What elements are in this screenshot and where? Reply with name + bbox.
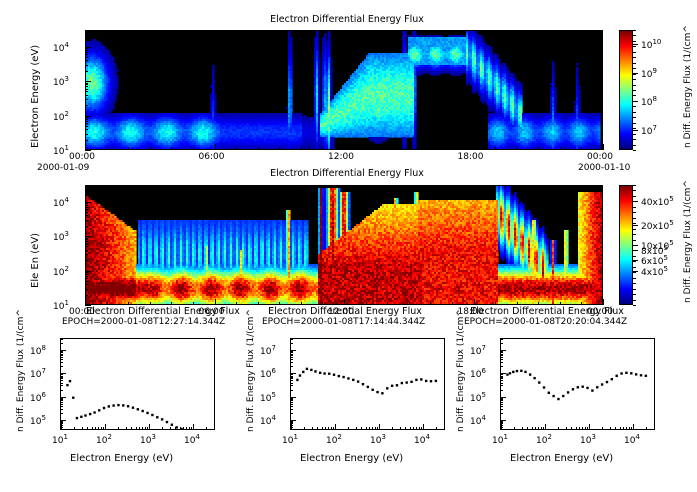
ytick-minor [60, 409, 63, 410]
bottom-panel-3-plot[interactable] [500, 338, 655, 430]
ytick-minor [290, 352, 293, 353]
colorbar-tick-minor [633, 272, 636, 273]
ytick-minor [290, 400, 293, 401]
xtick-minor [582, 427, 583, 430]
xtick-minor [538, 427, 539, 430]
panel2-colorbar[interactable] [619, 185, 633, 305]
xtick-minor [579, 427, 580, 430]
ytick-minor [60, 385, 63, 386]
xtick-minor [602, 427, 603, 430]
bottom-panel-1-title: Electron Differential Energy Flux [78, 306, 248, 317]
xtick-minor [301, 147, 302, 150]
ytick-minor [60, 376, 63, 377]
ytick-minor [85, 246, 88, 247]
colorbar-tick-minor [633, 185, 636, 186]
bottom-panel-1-ytick-1e8: 108 [30, 344, 46, 357]
ytick-minor [85, 89, 88, 90]
ytick-minor [85, 244, 88, 245]
ytick-minor [85, 220, 88, 221]
xtick-minor [620, 427, 621, 430]
bottom-panel-2-xtick-1e4: 104 [414, 433, 430, 446]
bottom-panel-1-xtick-1e2: 102 [96, 433, 112, 446]
xtick-minor [147, 427, 148, 430]
xtick-mark [501, 424, 502, 430]
ytick-minor [290, 378, 293, 379]
ytick-minor [500, 378, 503, 379]
xtick-minor [377, 427, 378, 430]
ytick-minor [60, 406, 63, 407]
ytick-minor [85, 241, 88, 242]
colorbar-tick-minor [633, 305, 636, 306]
xtick-minor [171, 147, 172, 150]
ytick-minor [85, 191, 88, 192]
colorbar-tick-minor [633, 261, 636, 262]
xtick-minor [193, 302, 194, 305]
xtick-minor [150, 147, 151, 150]
xtick-minor [436, 427, 437, 430]
bottom-panel-3-epoch: EPOCH=2000-01-08T20:20:04.344Z [464, 317, 627, 327]
ytick-minor [290, 413, 293, 414]
panel1-xdate-right: 2000-01-10 [578, 163, 630, 173]
xtick-minor [375, 427, 376, 430]
xtick-minor [581, 147, 582, 150]
ytick-minor [500, 376, 503, 377]
ytick-minor [290, 351, 293, 352]
bottom-panel-2-plot[interactable] [290, 338, 445, 430]
xtick-minor [387, 302, 388, 305]
xtick-minor [541, 427, 542, 430]
colorbar-tick-minor [633, 134, 636, 135]
ytick-minor [500, 351, 503, 352]
bottom-panel-2-canvas [291, 339, 444, 429]
ytick-minor [85, 254, 88, 255]
xtick-mark [193, 424, 194, 430]
bottom-panel-2-ylabel: n Diff. Energy Flux (1/(cm^ [246, 309, 256, 432]
colorbar-tick-minor [633, 41, 636, 42]
xtick-0600: 06:00 [199, 152, 225, 162]
xtick-minor [118, 427, 119, 430]
panel2-colorbar-label: n Diff. Energy Flux (1/(cm^ [683, 180, 693, 303]
colorbar-tick-minor [633, 201, 636, 202]
ytick-minor [60, 399, 63, 400]
ytick-minor [85, 71, 88, 72]
xtick-minor [193, 147, 194, 150]
ytick-minor [85, 215, 88, 216]
ytick-minor [500, 377, 503, 378]
ytick-minor [60, 359, 63, 360]
ytick-1e4: 104 [53, 196, 69, 209]
xtick-minor [615, 427, 616, 430]
ytick-1e2: 102 [53, 265, 69, 278]
ytick-1e3: 103 [53, 230, 69, 243]
colorbar-tick-minor [633, 117, 636, 118]
ytick-minor [60, 398, 63, 399]
colorbar-tick-minor [633, 300, 636, 301]
colorbar-tick-minor [633, 283, 636, 284]
xtick-minor [322, 427, 323, 430]
ytick-minor [500, 421, 503, 422]
colorbar-tick-minor [633, 101, 636, 102]
xtick-minor [646, 427, 647, 430]
xtick-minor [623, 427, 624, 430]
bottom-panel-3-xlabel: Electron Energy (eV) [510, 453, 613, 464]
colorbar-tick-0: 1010 [641, 38, 661, 51]
colorbar-tick-minor [633, 150, 636, 151]
ytick-minor [85, 57, 88, 58]
xtick-mark [423, 424, 424, 430]
panel1-xdate-left: 2000-01-09 [37, 163, 89, 173]
bottom-panel-3-ytick-1e7: 107 [470, 344, 486, 357]
ytick-minor [290, 402, 293, 403]
xtick-mark [61, 424, 62, 430]
xtick-minor [191, 427, 192, 430]
ytick-minor [290, 399, 293, 400]
ytick-minor [85, 117, 88, 118]
xtick-minor [145, 427, 146, 430]
ytick-1e4: 104 [53, 41, 69, 54]
xtick-minor [405, 427, 406, 430]
ytick-minor [85, 105, 88, 106]
colorbar-tick-2: 108 [641, 95, 657, 108]
ytick-minor [60, 362, 63, 363]
ytick-minor [85, 86, 88, 87]
panel1-spectrogram[interactable] [85, 30, 603, 150]
bottom-panel-2-xtick-1e3: 103 [370, 433, 386, 446]
xtick-minor [543, 427, 544, 430]
bottom-panel-3-ytick-1e6: 106 [470, 367, 486, 380]
xtick-minor [344, 302, 345, 305]
ytick-minor [85, 207, 88, 208]
ytick-minor [60, 422, 63, 423]
xtick-minor [372, 427, 373, 430]
xtick-minor [215, 302, 216, 305]
ytick-minor [85, 250, 88, 251]
ytick-minor [85, 121, 88, 122]
ytick-minor [500, 402, 503, 403]
bottom-panel-2-xtick-1e1: 101 [282, 433, 298, 446]
colorbar-tick-minor [633, 35, 636, 36]
xtick-minor [392, 427, 393, 430]
xtick-minor [430, 302, 431, 305]
xtick-minor [150, 302, 151, 305]
ytick-minor [85, 276, 88, 277]
ytick-minor [290, 359, 293, 360]
xtick-minor [517, 302, 518, 305]
colorbar-tick-minor [633, 139, 636, 140]
xtick-minor [576, 427, 577, 430]
colorbar-tick-minor [633, 190, 636, 191]
xtick-minor [369, 427, 370, 430]
xtick-minor [610, 427, 611, 430]
bottom-panel-3-canvas [501, 339, 654, 429]
bottom-panel-1-ytick-1e7: 107 [30, 367, 46, 380]
panel1-colorbar[interactable] [619, 30, 633, 150]
xtick-minor [344, 147, 345, 150]
ytick-minor [85, 281, 88, 282]
xtick-minor [356, 427, 357, 430]
ytick-minor [60, 383, 63, 384]
panel2-colorbar-gradient [620, 186, 632, 304]
xtick-minor [107, 147, 108, 150]
ytick-minor [290, 377, 293, 378]
ytick-minor [290, 422, 293, 423]
ytick-minor [60, 355, 63, 356]
xtick-minor [107, 302, 108, 305]
xtick-minor [258, 147, 259, 150]
ytick-minor [60, 343, 63, 344]
xtick-minor [82, 427, 83, 430]
xtick-minor [566, 427, 567, 430]
ytick-minor [60, 351, 63, 352]
xtick-minor [101, 427, 102, 430]
ytick-minor [500, 400, 503, 401]
ytick-minor [85, 91, 88, 92]
ytick-minor [85, 126, 88, 127]
xtick-minor [131, 427, 132, 430]
ytick-minor [500, 409, 503, 410]
xtick-1800: 18:00 [458, 152, 484, 162]
xtick-minor [532, 427, 533, 430]
ytick-minor [85, 123, 88, 124]
xtick-minor [162, 427, 163, 430]
xtick-minor [189, 427, 190, 430]
xtick-minor [495, 302, 496, 305]
ytick-minor [500, 413, 503, 414]
colorbar-tick-minor [633, 223, 636, 224]
xtick-mark [545, 424, 546, 430]
colorbar-tick-5: 4x105 [641, 265, 668, 278]
xtick-minor [214, 427, 215, 430]
xtick-mark [589, 424, 590, 430]
xtick-0000: 00:00 [587, 152, 613, 162]
colorbar-tick-minor [633, 234, 636, 235]
ytick-minor [85, 140, 88, 141]
xtick-minor [444, 427, 445, 430]
ytick-minor [85, 272, 88, 273]
bottom-panel-3-ytick-1e5: 105 [470, 391, 486, 404]
colorbar-tick-minor [633, 207, 636, 208]
bottom-panel-2-ytick-1e4: 104 [260, 414, 276, 427]
bottom-panel-3-ylabel: n Diff. Energy Flux (1/(cm^ [456, 309, 466, 432]
colorbar-tick-minor [633, 229, 636, 230]
bottom-panel-3-title: Electron Differential Energy Flux [462, 306, 632, 317]
xtick-minor [654, 427, 655, 430]
colorbar-tick-mark [633, 44, 638, 45]
ytick-minor [85, 50, 88, 51]
ytick-minor [85, 54, 88, 55]
bottom-panel-1-ytick-1e6: 106 [30, 391, 46, 404]
ytick-minor [500, 359, 503, 360]
xtick-minor [279, 302, 280, 305]
ytick-minor [290, 362, 293, 363]
colorbar-tick-minor [633, 46, 636, 47]
xtick-minor [603, 147, 604, 150]
bottom-panel-2-ytick-1e6: 106 [260, 367, 276, 380]
xtick-minor [85, 147, 86, 150]
bottom-panel-2-xtick-1e2: 102 [326, 433, 342, 446]
xtick-minor [560, 147, 561, 150]
xtick-minor [128, 302, 129, 305]
ytick-minor [85, 36, 88, 37]
colorbar-tick-minor [633, 196, 636, 197]
xtick-minor [452, 147, 453, 150]
xtick-minor [603, 302, 604, 305]
xtick-minor [279, 147, 280, 150]
bottom-panel-3-xtick-1e4: 104 [624, 433, 640, 446]
ytick-minor [290, 385, 293, 386]
ytick-minor [60, 413, 63, 414]
xtick-minor [361, 427, 362, 430]
ytick-minor [85, 295, 88, 296]
xtick-mark [291, 424, 292, 430]
colorbar-tick-minor [633, 90, 636, 91]
ytick-minor [500, 390, 503, 391]
ytick-minor [290, 339, 293, 340]
xtick-minor [333, 427, 334, 430]
xtick-minor [626, 427, 627, 430]
xtick-minor [215, 147, 216, 150]
xtick-minor [142, 427, 143, 430]
ytick-minor [290, 380, 293, 381]
colorbar-tick-minor [633, 218, 636, 219]
xtick-minor [387, 147, 388, 150]
ytick-minor [290, 357, 293, 358]
colorbar-tick-1: 20x105 [641, 219, 674, 232]
xtick-minor [558, 427, 559, 430]
bottom-panel-2-title: Electron Differential Energy Flux [260, 306, 430, 317]
xtick-minor [366, 302, 367, 305]
xtick-minor [495, 147, 496, 150]
xtick-minor [312, 427, 313, 430]
ytick-minor [60, 402, 63, 403]
xtick-minor [92, 427, 93, 430]
bottom-panel-3-xtick-1e1: 101 [492, 433, 508, 446]
ytick-minor [85, 274, 88, 275]
panel1-title: Electron Differential Energy Flux [187, 14, 507, 25]
xtick-minor [236, 302, 237, 305]
ytick-minor [290, 406, 293, 407]
colorbar-tick-minor [633, 128, 636, 129]
xtick-minor [514, 427, 515, 430]
xtick-minor [331, 427, 332, 430]
bottom-panel-1-plot[interactable] [60, 338, 215, 430]
xtick-minor [136, 427, 137, 430]
colorbar-tick-minor [633, 74, 636, 75]
ytick-minor [60, 378, 63, 379]
ytick-minor [500, 422, 503, 423]
colorbar-tick-minor [633, 278, 636, 279]
bottom-panel-3-xtick-1e2: 102 [536, 433, 552, 446]
xtick-minor [366, 427, 367, 430]
xtick-minor [522, 427, 523, 430]
xtick-minor [517, 147, 518, 150]
xtick-1200: 12:00 [328, 152, 354, 162]
xtick-minor [183, 427, 184, 430]
xtick-minor [474, 302, 475, 305]
ytick-minor [290, 354, 293, 355]
colorbar-tick-minor [633, 250, 636, 251]
ytick-minor [60, 421, 63, 422]
bottom-panel-1-xtick-1e4: 104 [184, 433, 200, 446]
xtick-minor [171, 302, 172, 305]
colorbar-tick-minor [633, 85, 636, 86]
colorbar-tick-mark [633, 130, 638, 131]
ytick-minor [85, 284, 88, 285]
bottom-panel-1-ylabel: n Diff. Energy Flux (1/(cm^ [16, 309, 26, 432]
ytick-minor [85, 84, 88, 85]
xtick-minor [98, 427, 99, 430]
xtick-minor [139, 427, 140, 430]
ytick-minor [290, 355, 293, 356]
ytick-minor [290, 374, 293, 375]
xtick-minor [128, 147, 129, 150]
xtick-minor [581, 302, 582, 305]
xtick-minor [325, 427, 326, 430]
colorbar-tick-minor [633, 68, 636, 69]
ytick-minor [85, 239, 88, 240]
panel2-ylabel: Ele En (eV) [30, 233, 41, 288]
xtick-minor [126, 427, 127, 430]
xtick-minor [421, 427, 422, 430]
xtick-minor [585, 427, 586, 430]
xtick-minor [95, 427, 96, 430]
ytick-minor [290, 383, 293, 384]
colorbar-tick-minor [633, 79, 636, 80]
colorbar-tick-1: 109 [641, 67, 657, 80]
panel2-spectrogram[interactable] [85, 185, 603, 305]
xtick-minor [175, 427, 176, 430]
xtick-minor [631, 427, 632, 430]
xtick-minor [410, 427, 411, 430]
xtick-minor [301, 302, 302, 305]
ytick-1e2: 102 [53, 110, 69, 123]
xtick-minor [538, 147, 539, 150]
ytick-minor [500, 355, 503, 356]
xtick-mark [335, 424, 336, 430]
colorbar-tick-minor [633, 30, 636, 31]
xtick-minor [348, 427, 349, 430]
ytick-minor [290, 398, 293, 399]
xtick-minor [85, 302, 86, 305]
xtick-minor [560, 302, 561, 305]
colorbar-tick-minor [633, 123, 636, 124]
xtick-minor [317, 427, 318, 430]
xtick-minor [322, 147, 323, 150]
ytick-minor [500, 374, 503, 375]
xtick-minor [206, 427, 207, 430]
xtick-minor [258, 302, 259, 305]
colorbar-tick-minor [633, 63, 636, 64]
xtick-mark [105, 424, 106, 430]
ytick-minor [500, 362, 503, 363]
xtick-minor [571, 427, 572, 430]
ytick-minor [85, 30, 88, 31]
bottom-panel-1-xtick-1e3: 103 [140, 433, 156, 446]
xtick-minor [322, 302, 323, 305]
ytick-minor [60, 374, 63, 375]
xtick-minor [186, 427, 187, 430]
colorbar-tick-minor [633, 112, 636, 113]
bottom-panel-1-xtick-1e1: 101 [52, 433, 68, 446]
ytick-minor [290, 421, 293, 422]
ytick-minor [60, 390, 63, 391]
ytick-minor [60, 366, 63, 367]
colorbar-tick-minor [633, 289, 636, 290]
xtick-minor [474, 147, 475, 150]
ytick-minor [60, 339, 63, 340]
ytick-1e1: 101 [53, 144, 69, 157]
bottom-panel-2-epoch: EPOCH=2000-01-08T17:14:44.344Z [262, 317, 425, 327]
